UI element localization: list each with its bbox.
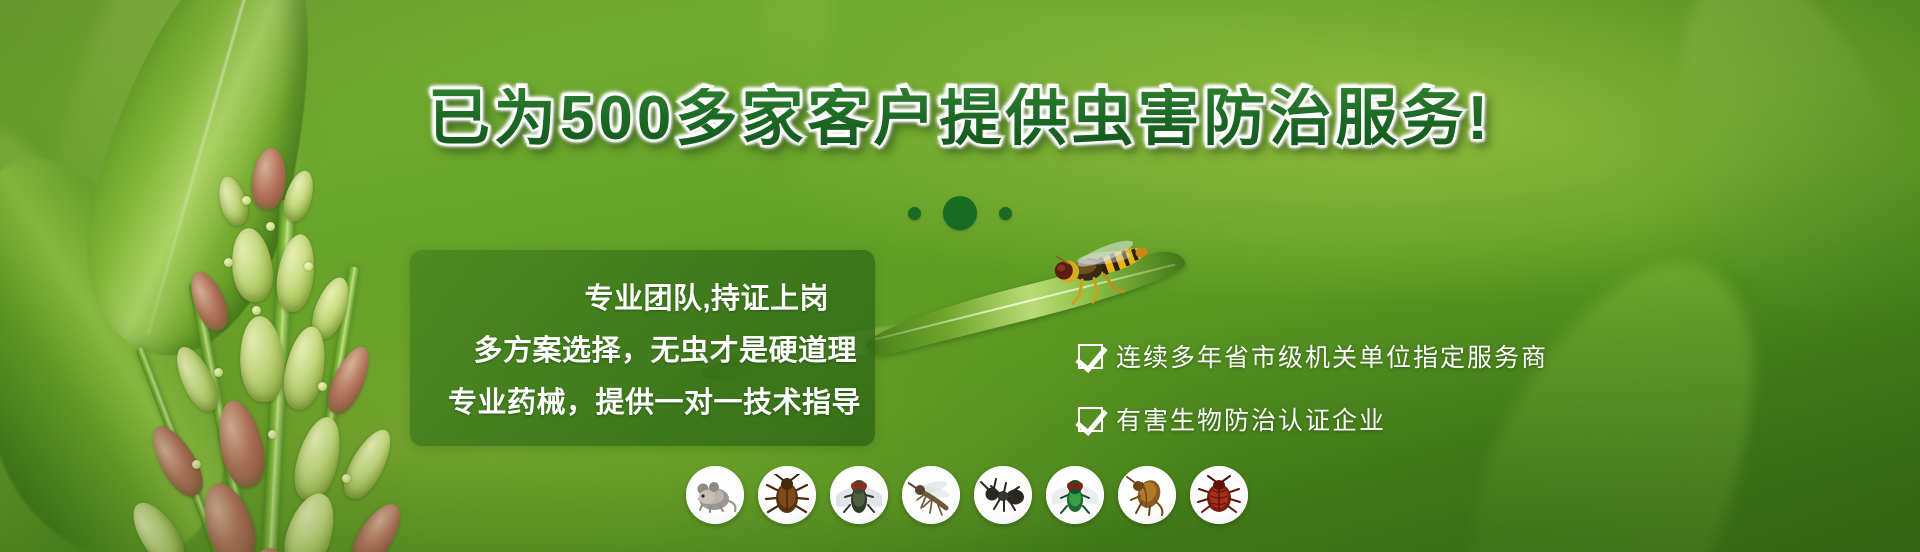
checklist-item-label: 有害生物防治认证企业: [1116, 401, 1386, 437]
blowfly-icon[interactable]: [1046, 466, 1104, 524]
dot-small-left: [908, 207, 921, 220]
feature-panel-line-1: 专业团队,持证上岗: [584, 275, 829, 317]
feature-panel-line-2: 多方案选择，无虫才是硬道理: [473, 327, 857, 369]
mouse-icon[interactable]: [686, 466, 744, 524]
credentials-checklist: 连续多年省市级机关单位指定服务商 有害生物防治认证企业: [1078, 338, 1548, 437]
dot-large-center: [943, 196, 977, 230]
feature-panel: 专业团队,持证上岗 多方案选择，无虫才是硬道理 专业药械，提供一对一技术指导: [410, 250, 875, 446]
decorative-dots: [0, 196, 1920, 230]
flea-icon[interactable]: [1118, 466, 1176, 524]
feature-panel-line-3: 专业药械，提供一对一技术指导: [448, 379, 861, 421]
list-item: 有害生物防治认证企业: [1078, 401, 1548, 437]
mosquito-icon[interactable]: [902, 466, 960, 524]
checkbox-checked-icon: [1078, 407, 1103, 432]
fly-icon[interactable]: [830, 466, 888, 524]
page-title: 已为500多家客户提供虫害防治服务!: [0, 88, 1920, 150]
cockroach-icon[interactable]: [758, 466, 816, 524]
dot-small-right: [999, 207, 1012, 220]
ant-icon[interactable]: [974, 466, 1032, 524]
list-item: 连续多年省市级机关单位指定服务商: [1078, 338, 1548, 374]
checkbox-checked-icon: [1078, 344, 1103, 369]
promotional-banner: 已为500多家客户提供虫害防治服务! 已为500多家客户提供虫害防治服务! 专业…: [0, 0, 1920, 552]
pest-icon-row: [686, 466, 1248, 524]
checklist-item-label: 连续多年省市级机关单位指定服务商: [1116, 338, 1548, 374]
bedbug-icon[interactable]: [1190, 466, 1248, 524]
